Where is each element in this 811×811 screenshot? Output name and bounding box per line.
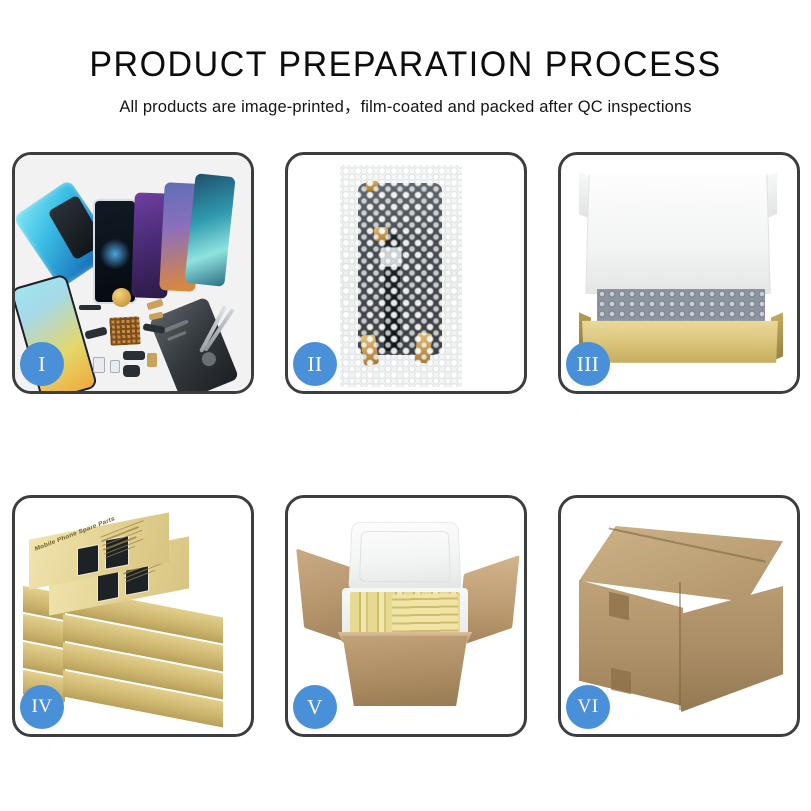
step-panel-5: V xyxy=(285,495,527,737)
step-panel-2: II xyxy=(285,152,527,394)
page-title: PRODUCT PREPARATION PROCESS xyxy=(12,46,799,84)
carton-vertical-edge-icon xyxy=(679,582,681,710)
carton-right-face-icon xyxy=(681,586,783,712)
battery-connector-icon xyxy=(147,353,157,367)
phone-back-housing-icon xyxy=(149,297,239,391)
small-part-icon xyxy=(93,357,105,373)
box-front-panel-icon xyxy=(582,321,778,363)
step-panel-3: III xyxy=(558,152,800,394)
step-panel-4: Mobile Phone Spare Parts Mobile Phone Sp… xyxy=(12,495,254,737)
step-badge-5: V xyxy=(293,685,337,729)
gold-coil-icon xyxy=(112,288,131,307)
box-window-1 xyxy=(77,544,99,576)
bubble-wrap-texture xyxy=(340,165,462,387)
page-subtitle: All products are image-printed，film-coat… xyxy=(0,93,811,117)
small-part-2-icon xyxy=(110,360,120,373)
gold-boxes-inside-2-icon xyxy=(392,593,459,638)
carton-front-panel-icon xyxy=(334,636,476,706)
bubble-wrapped-contents-icon xyxy=(597,289,765,325)
flex-cable-icon xyxy=(84,326,107,339)
front-glass-icon xyxy=(93,199,137,304)
step-badge-3: III xyxy=(566,342,610,386)
box-lid-icon xyxy=(585,174,771,294)
carton-tape-lower-icon xyxy=(611,668,631,695)
connector-grid-icon xyxy=(109,316,140,346)
foam-box-lid-icon xyxy=(348,522,462,592)
step-badge-4: IV xyxy=(20,685,64,729)
step-badge-2: II xyxy=(293,342,337,386)
speaker-part-icon xyxy=(123,365,140,377)
page-header: PRODUCT PREPARATION PROCESS All products… xyxy=(0,0,811,117)
carton-tape-upper-icon xyxy=(609,592,629,621)
ic-module-icon xyxy=(123,351,145,360)
chip-part-icon xyxy=(79,305,101,310)
process-step-grid: I II xyxy=(12,152,800,752)
step-badge-1: I xyxy=(20,342,64,386)
step-badge-6: VI xyxy=(566,685,610,729)
step-panel-6: VI xyxy=(558,495,800,737)
step-panel-1: I xyxy=(12,152,254,394)
gold-flex-icon xyxy=(146,299,163,311)
product-preparation-process-page: PRODUCT PREPARATION PROCESS All products… xyxy=(0,0,811,811)
